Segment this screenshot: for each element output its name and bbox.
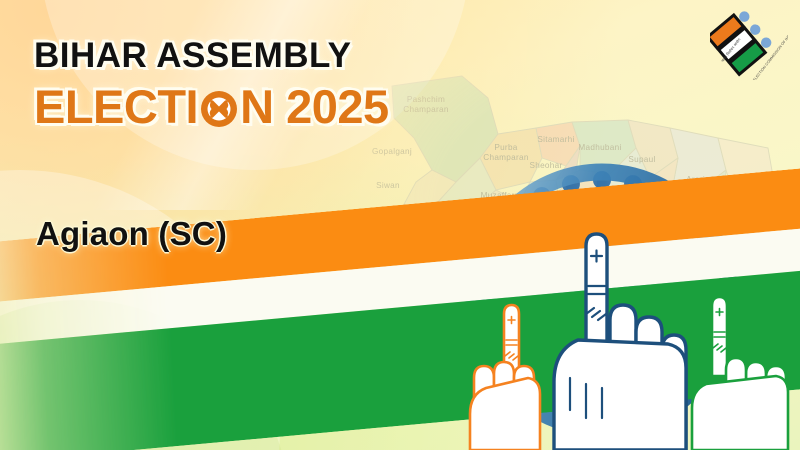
election-year-title: ELECTI N 2025 [34,83,464,130]
ballot-stamp-icon [199,89,239,129]
svg-text:Champaran: Champaran [483,153,529,162]
election-word-prefix: ELECTI [34,83,198,130]
left-hand-orange [470,305,540,450]
right-hand-green [692,297,788,450]
svg-text:Madhubani: Madhubani [578,143,621,152]
svg-text:Siwan: Siwan [376,181,400,190]
center-hand-navy [554,234,686,450]
svg-text:Sitamarhi: Sitamarhi [537,135,574,144]
election-word-suffix: N 2025 [240,83,389,130]
page-title: BIHAR ASSEMBLY [34,38,464,74]
svg-text:Sheohar: Sheohar [529,161,562,170]
election-poster: PashchimChamparan PurbaChamparan Gopalga… [0,0,800,450]
constituency-name: Agiaon (SC) [36,215,227,253]
svg-text:Gopalganj: Gopalganj [372,147,412,156]
eci-logo: भारत निर्वाचन आयोग ELECTION COMMISSION O… [710,8,788,80]
inked-finger-hands [460,228,800,450]
headline-block: BIHAR ASSEMBLY ELECTI N 2025 [34,38,464,130]
svg-text:Supaul: Supaul [628,155,655,164]
svg-text:Purba: Purba [494,143,517,152]
